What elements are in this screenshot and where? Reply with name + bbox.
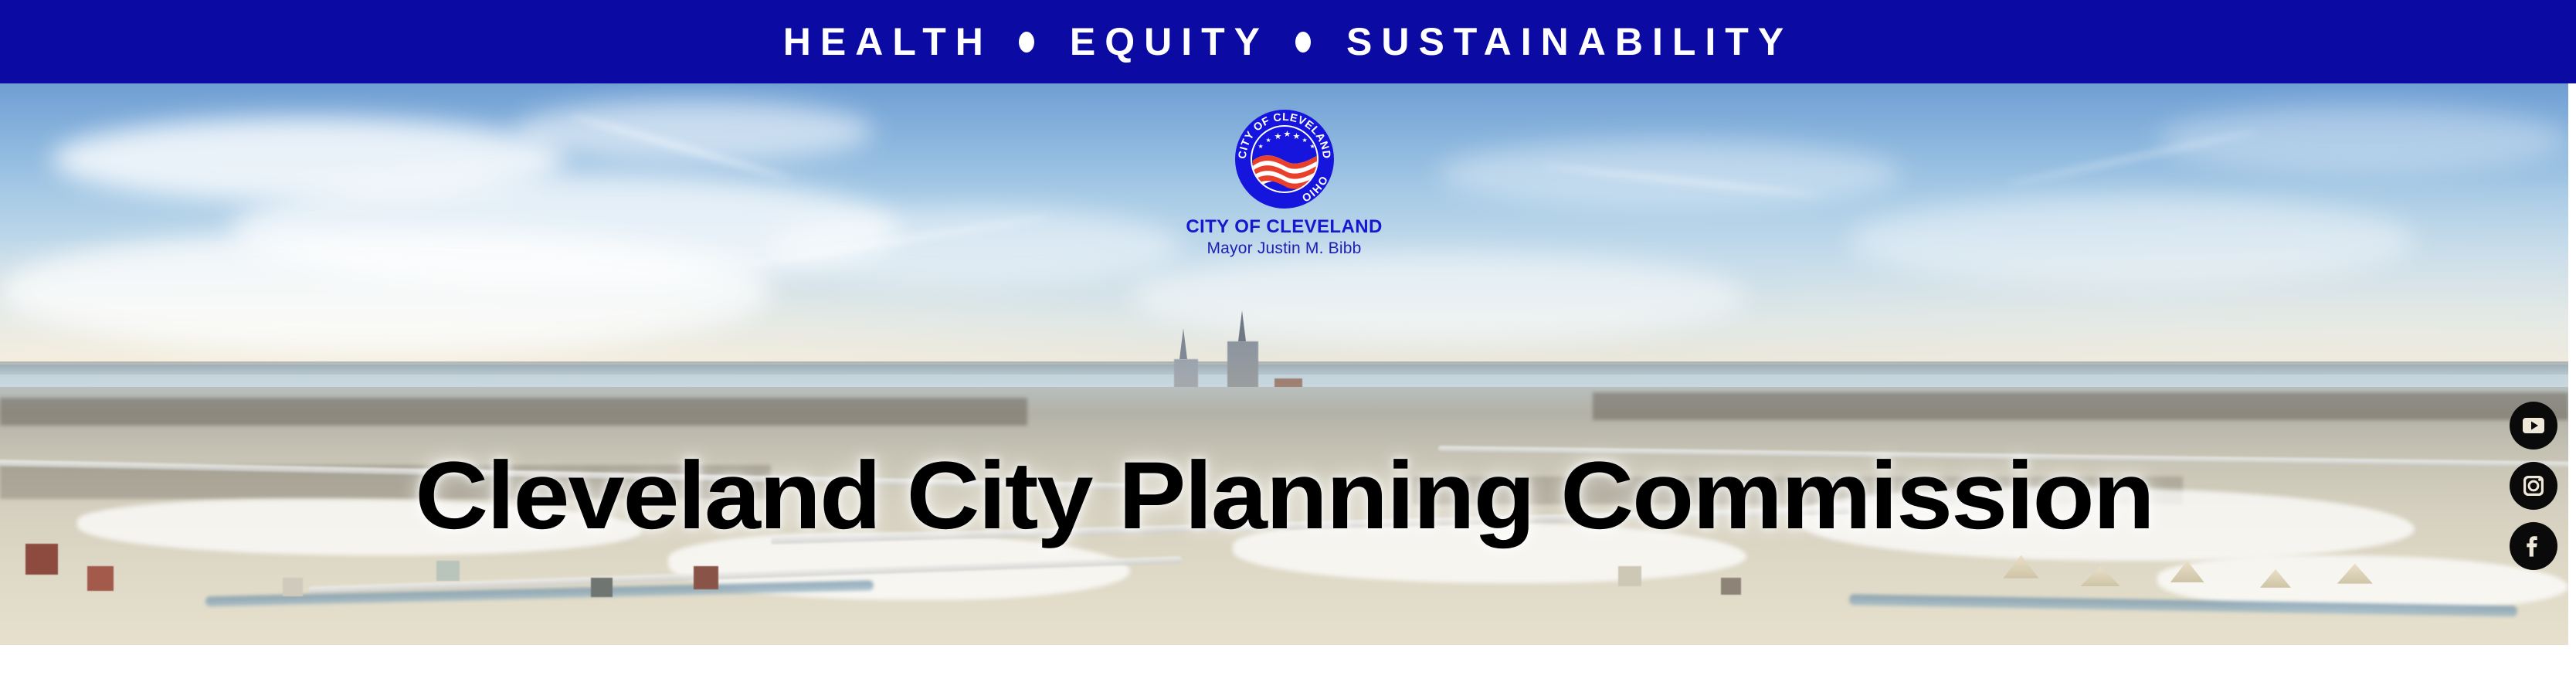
social-links (2510, 402, 2557, 570)
cloud-9 (1130, 252, 1746, 341)
top-banner: HEALTH EQUITY SUSTAINABILITY (0, 0, 2576, 83)
banner-word-equity: EQUITY (1070, 22, 1269, 61)
seal-org-name: CITY OF CLEVELAND (1186, 217, 1382, 236)
tree-band-2 (1593, 392, 2569, 420)
right-white-margin (2568, 83, 2576, 645)
banner-word-sustainability: SUSTAINABILITY (1346, 22, 1793, 61)
banner-separator-dot-1 (1019, 32, 1034, 53)
neighborhood-building-1 (25, 544, 58, 575)
neighborhood-building-5 (591, 578, 613, 597)
bottom-white-margin (0, 645, 2576, 682)
banner-separator-dot-2 (1295, 32, 1311, 53)
facebook-icon[interactable] (2510, 522, 2557, 570)
banner-tagline: HEALTH EQUITY SUSTAINABILITY (783, 22, 1793, 61)
neighborhood-building-6 (694, 566, 718, 589)
terminal-tower-spire (1179, 328, 1187, 359)
neighborhood-building-2 (87, 566, 114, 591)
youtube-icon[interactable] (2510, 402, 2557, 450)
seal-flag-icon (1251, 148, 1319, 193)
instagram-icon[interactable] (2510, 462, 2557, 510)
hero-photo: CITY OF CLEVELAND OHIO ★ ★ ★ ★ ★ ★ ★ (0, 83, 2568, 645)
banner-word-health: HEALTH (783, 22, 993, 61)
seal-inner-disc: ★ ★ ★ ★ ★ ★ ★ (1251, 125, 1319, 193)
neighborhood-building-8 (1721, 578, 1741, 595)
seal-mayor-line: Mayor Justin M. Bibb (1207, 239, 1361, 258)
neighborhood-building-4 (436, 561, 460, 581)
city-seal-block: CITY OF CLEVELAND OHIO ★ ★ ★ ★ ★ ★ ★ (0, 110, 2568, 258)
city-of-cleveland-seal-icon: CITY OF CLEVELAND OHIO ★ ★ ★ ★ ★ ★ ★ (1235, 110, 1334, 209)
neighborhood-building-3 (283, 578, 303, 596)
key-tower-spire (1238, 310, 1246, 341)
tree-band-1 (0, 398, 1027, 426)
neighborhood-building-7 (1618, 566, 1641, 586)
